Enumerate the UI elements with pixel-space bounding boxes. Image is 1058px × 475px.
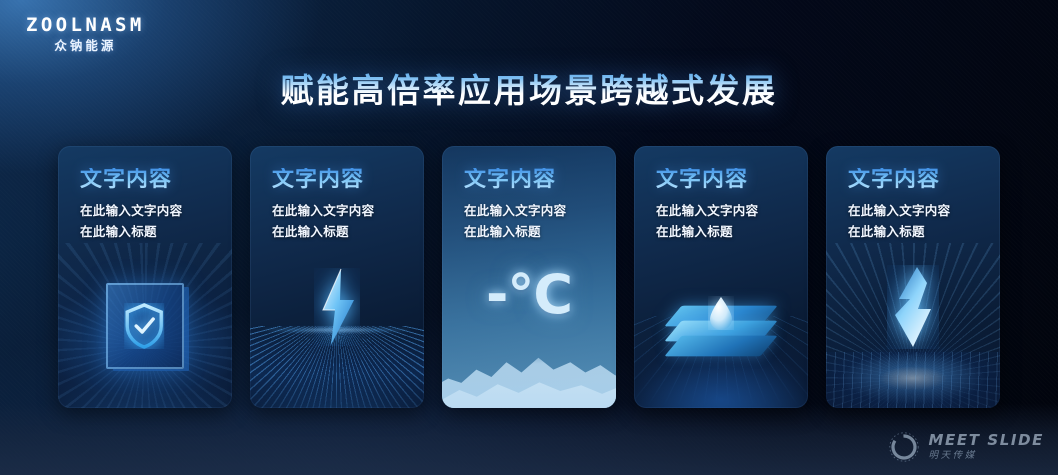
card-body-line-1: 在此输入文字内容 xyxy=(80,201,232,220)
card-body-line-1: 在此输入文字内容 xyxy=(464,201,616,220)
page-title: 赋能高倍率应用场景跨越式发展 xyxy=(0,64,1058,112)
card-text-block: 文字内容 在此输入文字内容 在此输入标题 xyxy=(634,146,808,241)
card-body-line-1: 在此输入文字内容 xyxy=(848,201,1000,220)
brand-logo-wordmark: ZOOLNASM xyxy=(26,16,145,35)
card-heading: 文字内容 xyxy=(848,168,1000,192)
card-body-line-1: 在此输入文字内容 xyxy=(656,201,808,220)
watermark-title: MEET SLIDE xyxy=(928,433,1044,449)
card-artwork-impact xyxy=(826,243,1000,408)
watermark-text: MEET SLIDE 明天传媒 xyxy=(928,433,1044,461)
feature-card[interactable]: 文字内容 在此输入文字内容 在此输入标题 xyxy=(634,146,808,408)
card-artwork-shield xyxy=(58,243,232,408)
card-body-line-2: 在此输入标题 xyxy=(272,222,424,241)
card-text-block: 文字内容 在此输入文字内容 在此输入标题 xyxy=(442,146,616,241)
brand-logo: ZOOLNASM 众钠能源 xyxy=(26,16,145,53)
ground-grid xyxy=(826,352,1000,408)
card-heading: 文字内容 xyxy=(656,168,808,192)
shield-check-icon xyxy=(124,303,164,349)
watermark: MEET SLIDE 明天传媒 xyxy=(888,431,1044,463)
card-body-line-2: 在此输入标题 xyxy=(80,222,232,241)
card-body-line-2: 在此输入标题 xyxy=(656,222,808,241)
brand-logo-chinese: 众钠能源 xyxy=(26,40,145,53)
feature-card[interactable]: -°C 文字内容 在此输入文字内容 在此输入标题 xyxy=(442,146,616,408)
card-artwork-ice: -°C xyxy=(442,243,616,408)
card-artwork-droplet xyxy=(634,243,808,408)
card-heading: 文字内容 xyxy=(464,168,616,192)
layer-plate-bottom xyxy=(721,326,808,366)
slide-canvas: ZOOLNASM 众钠能源 赋能高倍率应用场景跨越式发展 xyxy=(0,0,1058,475)
card-body-line-1: 在此输入文字内容 xyxy=(272,201,424,220)
card-body-line-2: 在此输入标题 xyxy=(464,222,616,241)
lightning-bolt-icon xyxy=(314,268,360,346)
ring-logo-icon xyxy=(888,431,920,463)
feature-card[interactable]: 文字内容 在此输入文字内容 在此输入标题 xyxy=(826,146,1000,408)
water-droplet-layers-icon xyxy=(708,296,734,330)
card-heading: 文字内容 xyxy=(272,168,424,192)
feature-card[interactable]: 文字内容 在此输入文字内容 在此输入标题 xyxy=(58,146,232,408)
feature-card[interactable]: 文字内容 在此输入文字内容 在此输入标题 xyxy=(250,146,424,408)
card-body-line-2: 在此输入标题 xyxy=(848,222,1000,241)
feature-card-row: 文字内容 在此输入文字内容 在此输入标题 xyxy=(58,146,1000,408)
downward-lightning-impact-icon xyxy=(887,265,939,349)
card-heading: 文字内容 xyxy=(80,168,232,192)
card-text-block: 文字内容 在此输入文字内容 在此输入标题 xyxy=(58,146,232,241)
card-artwork-bolt xyxy=(250,243,424,408)
card-text-block: 文字内容 在此输入文字内容 在此输入标题 xyxy=(826,146,1000,241)
ice-temperature-icon: -°C xyxy=(486,263,572,326)
card-text-block: 文字内容 在此输入文字内容 在此输入标题 xyxy=(250,146,424,241)
watermark-subtitle: 明天传媒 xyxy=(928,451,1044,461)
